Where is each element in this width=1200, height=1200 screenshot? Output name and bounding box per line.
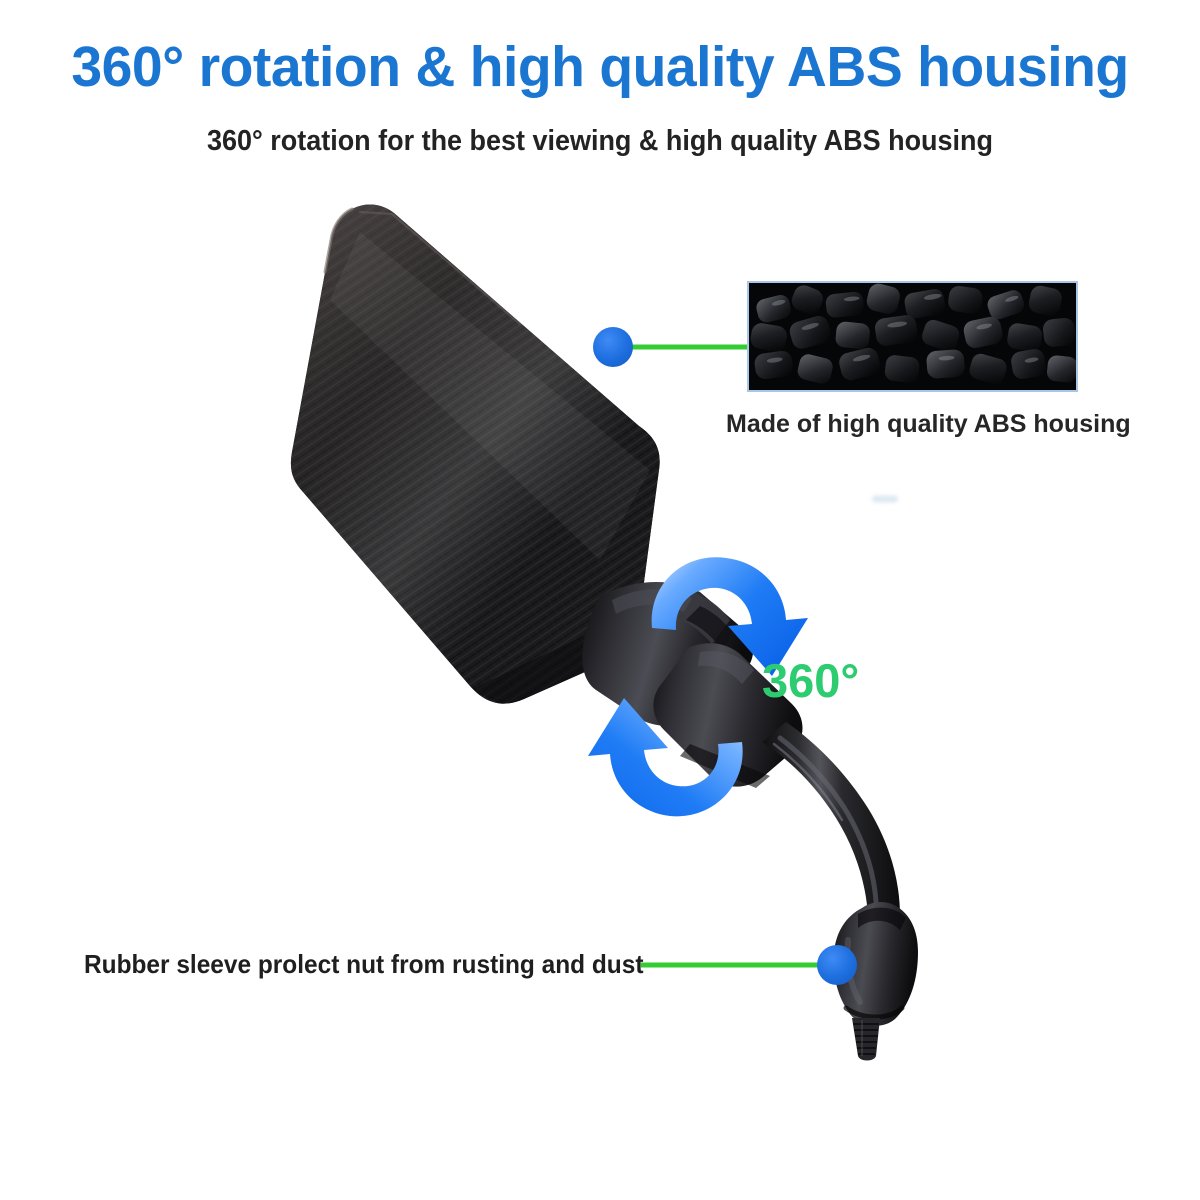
product-illustration [0,0,1200,1200]
abs-pellets-image [749,283,1076,392]
infographic-canvas: 360° rotation & high quality ABS housing… [0,0,1200,1200]
mirror-stem-tube [762,722,900,916]
callout-dot-rubber[interactable] [817,945,857,985]
callout-label-rubber: Rubber sleeve prolect nut from rusting a… [84,949,643,980]
threaded-bolt [852,1018,880,1061]
rotation-degree-label: 360° [762,655,859,707]
callout-label-abs: Made of high quality ABS housing [726,409,1131,439]
callout-dot-abs[interactable] [593,327,633,367]
abs-pellets-inset-photo [747,281,1078,392]
image-artifact [872,496,898,502]
